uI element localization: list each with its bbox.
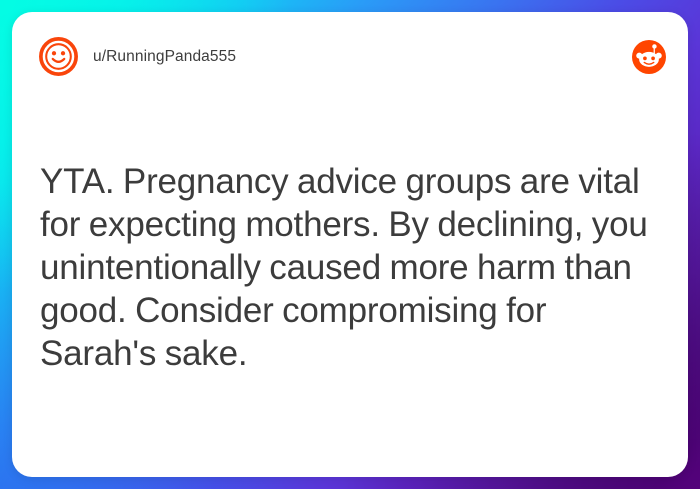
reddit-comment-card: u/RunningPanda555 YTA. Pregnancy advice … <box>12 12 688 477</box>
comment-text: YTA. Pregnancy advice groups are vital f… <box>40 160 670 375</box>
smiley-face-avatar-icon[interactable] <box>38 36 79 77</box>
screenshot-stage: u/RunningPanda555 YTA. Pregnancy advice … <box>0 0 700 489</box>
reddit-snoo-logo-icon[interactable] <box>632 40 666 74</box>
username-label[interactable]: u/RunningPanda555 <box>93 44 236 70</box>
comment-header: u/RunningPanda555 <box>12 12 688 100</box>
